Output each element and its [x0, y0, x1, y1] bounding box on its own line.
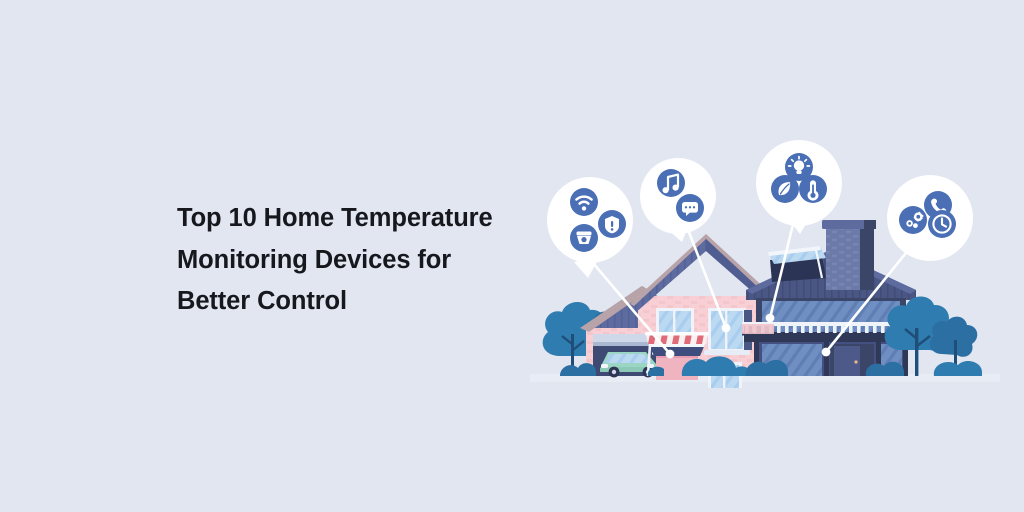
bubble-connectivity[interactable] [547, 177, 633, 278]
thermometer-icon[interactable] [799, 175, 827, 203]
page-title-line-3: Better Control [177, 281, 537, 323]
chimney [822, 220, 876, 290]
music-note-icon[interactable] [657, 169, 685, 197]
bubble-control[interactable] [887, 175, 973, 261]
door-canopy [648, 342, 706, 356]
leaf-eco-icon[interactable] [771, 175, 799, 203]
cctv-camera-icon[interactable] [570, 224, 598, 252]
shield-security-icon[interactable] [598, 210, 626, 238]
page-canvas: Top 10 Home Temperature Monitoring Devic… [0, 0, 1024, 512]
bubble-climate[interactable] [756, 140, 842, 234]
wifi-icon[interactable] [570, 188, 598, 216]
page-title-line-1: Top 10 Home Temperature [177, 198, 537, 240]
clock-icon[interactable] [928, 210, 956, 238]
smart-home-illustration [530, 138, 1000, 388]
bubble-media[interactable] [640, 158, 716, 242]
skylight [768, 246, 826, 282]
page-title: Top 10 Home Temperature Monitoring Devic… [177, 198, 537, 323]
message-bubble-icon[interactable] [676, 194, 704, 222]
gears-settings-icon[interactable] [899, 206, 927, 234]
page-title-line-2: Monitoring Devices for [177, 240, 537, 282]
